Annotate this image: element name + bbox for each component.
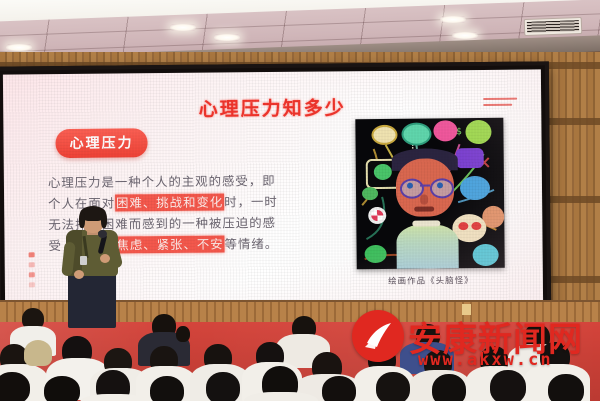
boy-glasses-right xyxy=(430,178,454,198)
audience-head xyxy=(206,372,240,401)
boy-eye-right xyxy=(437,182,443,188)
emotion-face-virus xyxy=(374,164,392,180)
ceiling-light xyxy=(440,16,466,23)
audience-cap xyxy=(24,340,52,366)
emotion-face xyxy=(362,187,378,200)
emotion-face xyxy=(465,120,491,144)
microphone-head xyxy=(98,230,107,238)
bird-icon xyxy=(359,317,397,355)
audience-head xyxy=(322,376,356,401)
emotion-eye xyxy=(471,222,481,230)
boy-nose xyxy=(420,195,428,205)
boy-glasses-bridge xyxy=(420,184,430,186)
section-badge: 心理压力 xyxy=(55,128,147,158)
audience-head xyxy=(376,372,410,401)
audience-head xyxy=(548,374,584,401)
emotion-face xyxy=(456,148,484,168)
photograph: 心理压力知多少 心理压力 心理压力是一种个人的主观的感受，即 个人在面对困难、挑… xyxy=(0,0,600,401)
ceiling-light xyxy=(452,32,478,39)
audience-head xyxy=(150,376,184,401)
emotion-face xyxy=(433,120,457,141)
audience-head xyxy=(44,376,80,401)
highlight-phrase-1: 困难、挑战和变化 xyxy=(115,193,224,211)
artwork-caption: 绘画作品《头脑怪》 xyxy=(349,274,513,288)
presenter-hand-left xyxy=(74,270,84,279)
audience-body xyxy=(80,394,148,401)
emotion-face xyxy=(473,244,499,266)
body-line-1: 心理压力是一种个人的主观的感受，即 xyxy=(48,170,318,194)
boy-mouth xyxy=(414,206,434,211)
decorative-lines xyxy=(483,98,517,110)
boy-shirt xyxy=(396,224,458,269)
emotion-bubble xyxy=(371,125,397,145)
artwork-container: ? $$ xyxy=(355,118,504,269)
audience-head xyxy=(0,372,30,401)
highlight-phrase-2: 焦虑、紧张、不安 xyxy=(115,235,224,253)
ceiling-light xyxy=(214,34,240,41)
presenter-hand-right xyxy=(100,254,110,263)
audience-head xyxy=(432,374,466,401)
audience-head xyxy=(490,370,526,401)
presenter-hair-side xyxy=(101,212,107,228)
watermark-logo xyxy=(352,310,404,362)
audience-hair-bun xyxy=(176,326,190,342)
artwork-image: ? $$ xyxy=(355,118,504,269)
boy-eye-left xyxy=(407,183,413,189)
audience-body xyxy=(244,392,318,401)
air-vent xyxy=(524,17,583,36)
watermark: 安康新闻网 www.akxw.cn xyxy=(352,306,600,372)
vent-slats xyxy=(527,20,579,33)
watermark-url: www.akxw.cn xyxy=(418,350,553,370)
emotion-face xyxy=(365,245,387,263)
ceiling-light xyxy=(6,44,32,51)
boy-collar xyxy=(412,220,440,226)
emotion-face xyxy=(401,122,431,145)
emotion-face xyxy=(460,176,490,200)
emotion-eye xyxy=(458,222,468,230)
decorative-dots xyxy=(29,252,35,292)
candy-swirl xyxy=(371,210,383,221)
presenter-hair-side xyxy=(79,212,85,228)
presenter-badge xyxy=(80,256,87,265)
ceiling-light xyxy=(170,24,196,31)
